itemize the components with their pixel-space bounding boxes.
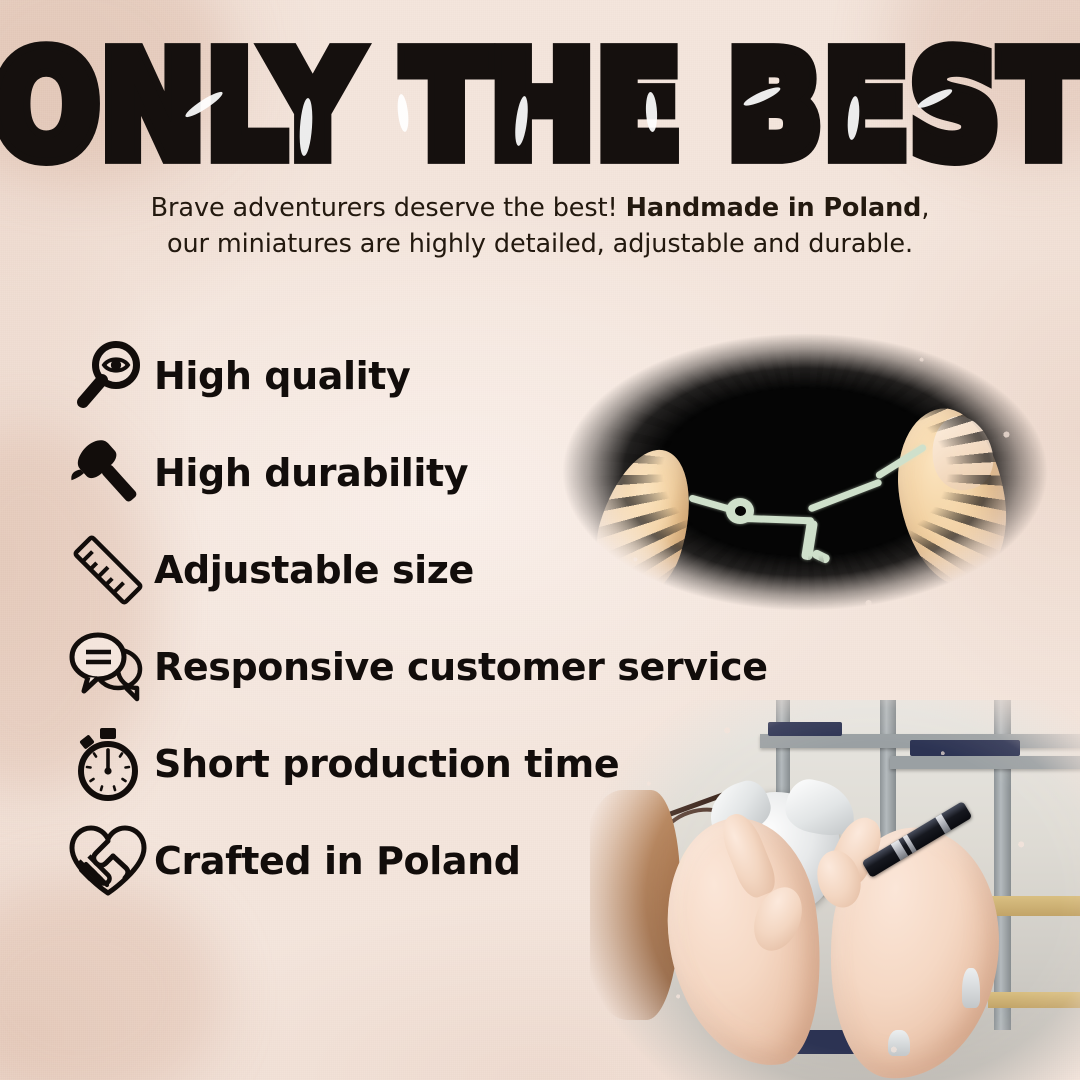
feature-label-high-durability: High durability [154, 451, 468, 495]
heart-handshake-icon [62, 823, 154, 899]
feature-label-customer-service: Responsive customer service [154, 645, 768, 689]
feature-label-high-quality: High quality [154, 354, 410, 398]
subtitle-line-1: Brave adventurers deserve the best! Hand… [0, 190, 1080, 226]
unpainted-miniature-2 [888, 1030, 910, 1056]
shelf-board-upper [890, 756, 1080, 769]
hammer-icon [62, 435, 154, 511]
feature-label-adjustable-size: Adjustable size [154, 548, 474, 592]
stopwatch-icon [62, 726, 154, 802]
workshop-painting-photo [590, 700, 1080, 1080]
leather-surface [590, 790, 680, 1020]
headline-container: ONLY THE BEST [0, 34, 1080, 152]
shelf-tray-top-2 [910, 740, 1020, 756]
workbench-shelf-lower [988, 992, 1080, 1008]
subtitle-line-2: our miniatures are highly detailed, adju… [0, 226, 1080, 262]
subtitle-line1-prefix: Brave adventurers deserve the best! [151, 193, 626, 223]
shelf-tray-top-1 [768, 722, 842, 736]
subtitle-line1-bold: Handmade in Poland [626, 193, 922, 223]
unpainted-miniature-1 [962, 968, 980, 1008]
flexible-miniature-photo [540, 316, 1070, 628]
infographic-canvas: ONLY THE BEST Brave adventurers deserve … [0, 0, 1080, 1080]
chat-bubbles-icon [62, 629, 154, 705]
photo-top-torn-edge [540, 316, 1070, 628]
subtitle-line1-suffix: , [921, 193, 929, 223]
subtitle: Brave adventurers deserve the best! Hand… [0, 190, 1080, 262]
hobby-knife-band-3 [935, 814, 951, 834]
feature-label-production-time: Short production time [154, 742, 619, 786]
page-title: ONLY THE BEST [0, 34, 1080, 178]
magnifier-eye-icon [62, 338, 154, 414]
feature-label-crafted-in-poland: Crafted in Poland [154, 839, 521, 883]
ruler-icon [62, 532, 154, 608]
